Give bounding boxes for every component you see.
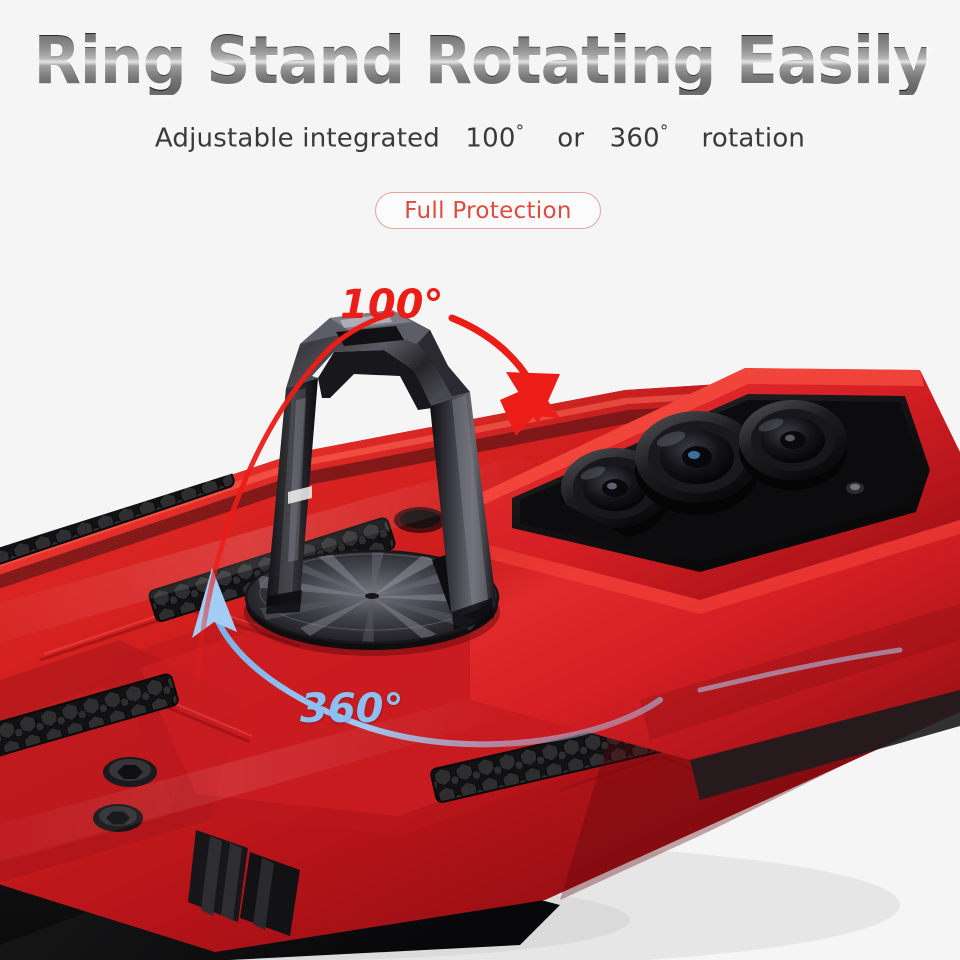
camera-lens — [635, 411, 759, 515]
degree-symbol-icon: ° — [516, 122, 525, 142]
camera-lens — [739, 400, 847, 490]
degree-symbol-icon: ° — [660, 122, 669, 142]
subtitle-angle-1: 100 — [465, 124, 515, 154]
subtitle-suffix: rotation — [702, 124, 806, 154]
page-title: Ring Stand Rotating Easily — [34, 26, 927, 95]
rotation-angle-label: 360° — [300, 686, 404, 732]
subtitle-angle-2: 360 — [610, 124, 660, 154]
full-protection-badge: Full Protection — [375, 192, 601, 229]
badge-label: Full Protection — [404, 198, 572, 224]
subtitle-conjunction: or — [557, 124, 584, 154]
subtitle-prefix: Adjustable integrated — [155, 124, 440, 154]
page-subtitle: Adjustable integrated 100° or 360° rotat… — [0, 122, 960, 154]
camera-flash — [846, 482, 864, 494]
product-feature-banner: Ring Stand Rotating Easily Ring Stand Ro… — [0, 0, 960, 960]
tilt-angle-label: 100° — [340, 282, 444, 328]
